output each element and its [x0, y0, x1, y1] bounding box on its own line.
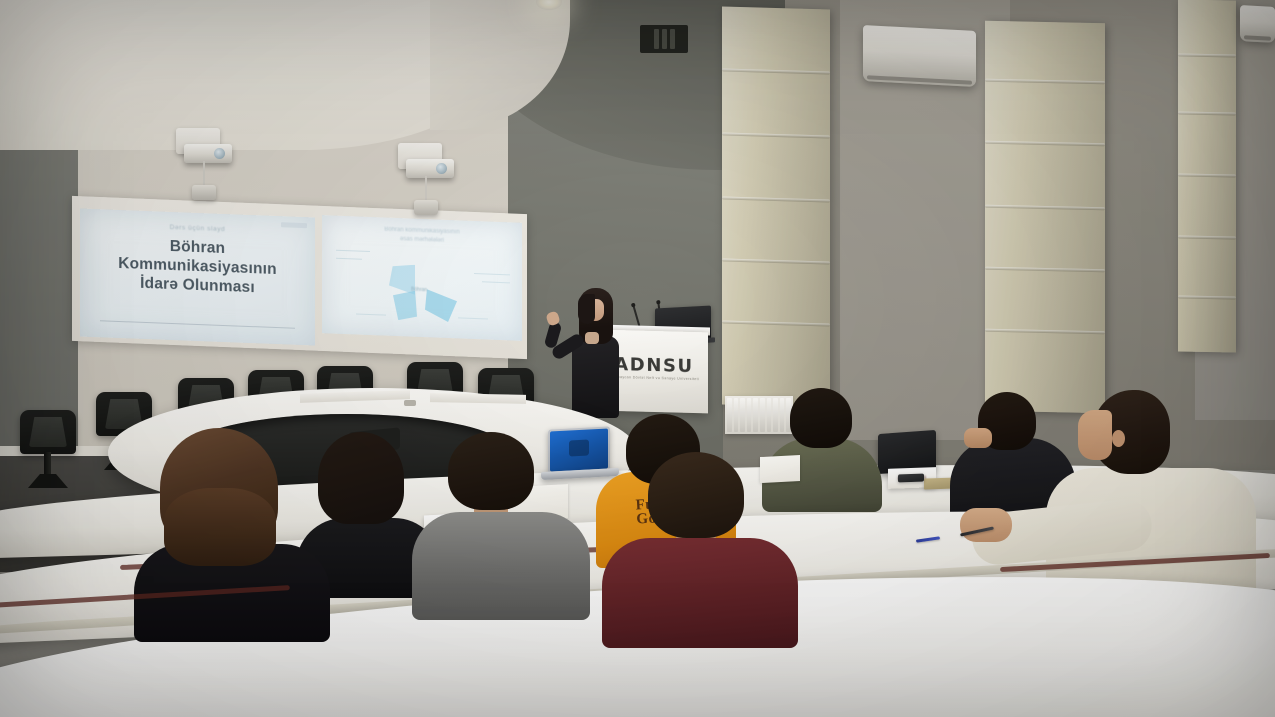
ventilation-grille-icon [640, 25, 688, 53]
radiator [725, 396, 793, 434]
air-conditioner-icon [863, 25, 976, 87]
slide-corner-mark [281, 222, 307, 228]
donut-center-label: Böhran [411, 287, 427, 294]
papers [760, 455, 800, 483]
projection-screen-left: Dərs üçün slayd Böhran Kommunikasiyasını… [80, 208, 315, 345]
presenter-scarf [585, 332, 599, 344]
projection-screen-right: Böhran kommunikasiyasının əsas mərhələlə… [322, 215, 522, 341]
slide-eyebrow: Dərs üçün slayd [80, 220, 315, 236]
projector-lens-icon [436, 163, 447, 174]
slide-title: Böhran Kommunikasiyasının İdarə Olunması [86, 235, 309, 300]
laptop-display [550, 428, 608, 471]
air-conditioner-icon [1240, 5, 1275, 43]
slide-divider [100, 320, 295, 328]
projector-sensor [414, 200, 438, 215]
table-cable-puck [404, 400, 416, 406]
projector-cable [425, 176, 427, 202]
slide2-heading: Böhran kommunikasiyasının əsas mərhələlə… [330, 223, 514, 248]
donut-segment [393, 290, 417, 321]
ceiling-cream [0, 0, 500, 150]
projector-sensor [192, 185, 216, 200]
table-panel [430, 393, 526, 404]
donut-segment [425, 289, 457, 322]
roman-blind[interactable] [722, 6, 830, 407]
roman-blind[interactable] [985, 21, 1105, 414]
slide-donut-diagram: Böhran [383, 260, 461, 325]
presenter-body [572, 336, 619, 418]
presenter [545, 288, 625, 418]
phone[interactable] [898, 474, 924, 483]
lecture-hall-photo: Dərs üçün slayd Böhran Kommunikasiyasını… [0, 0, 1275, 717]
roman-blind[interactable] [1178, 0, 1236, 353]
projector-lens-icon [214, 148, 225, 159]
presenter-hair-front [578, 294, 595, 324]
projector-cable [203, 161, 205, 187]
